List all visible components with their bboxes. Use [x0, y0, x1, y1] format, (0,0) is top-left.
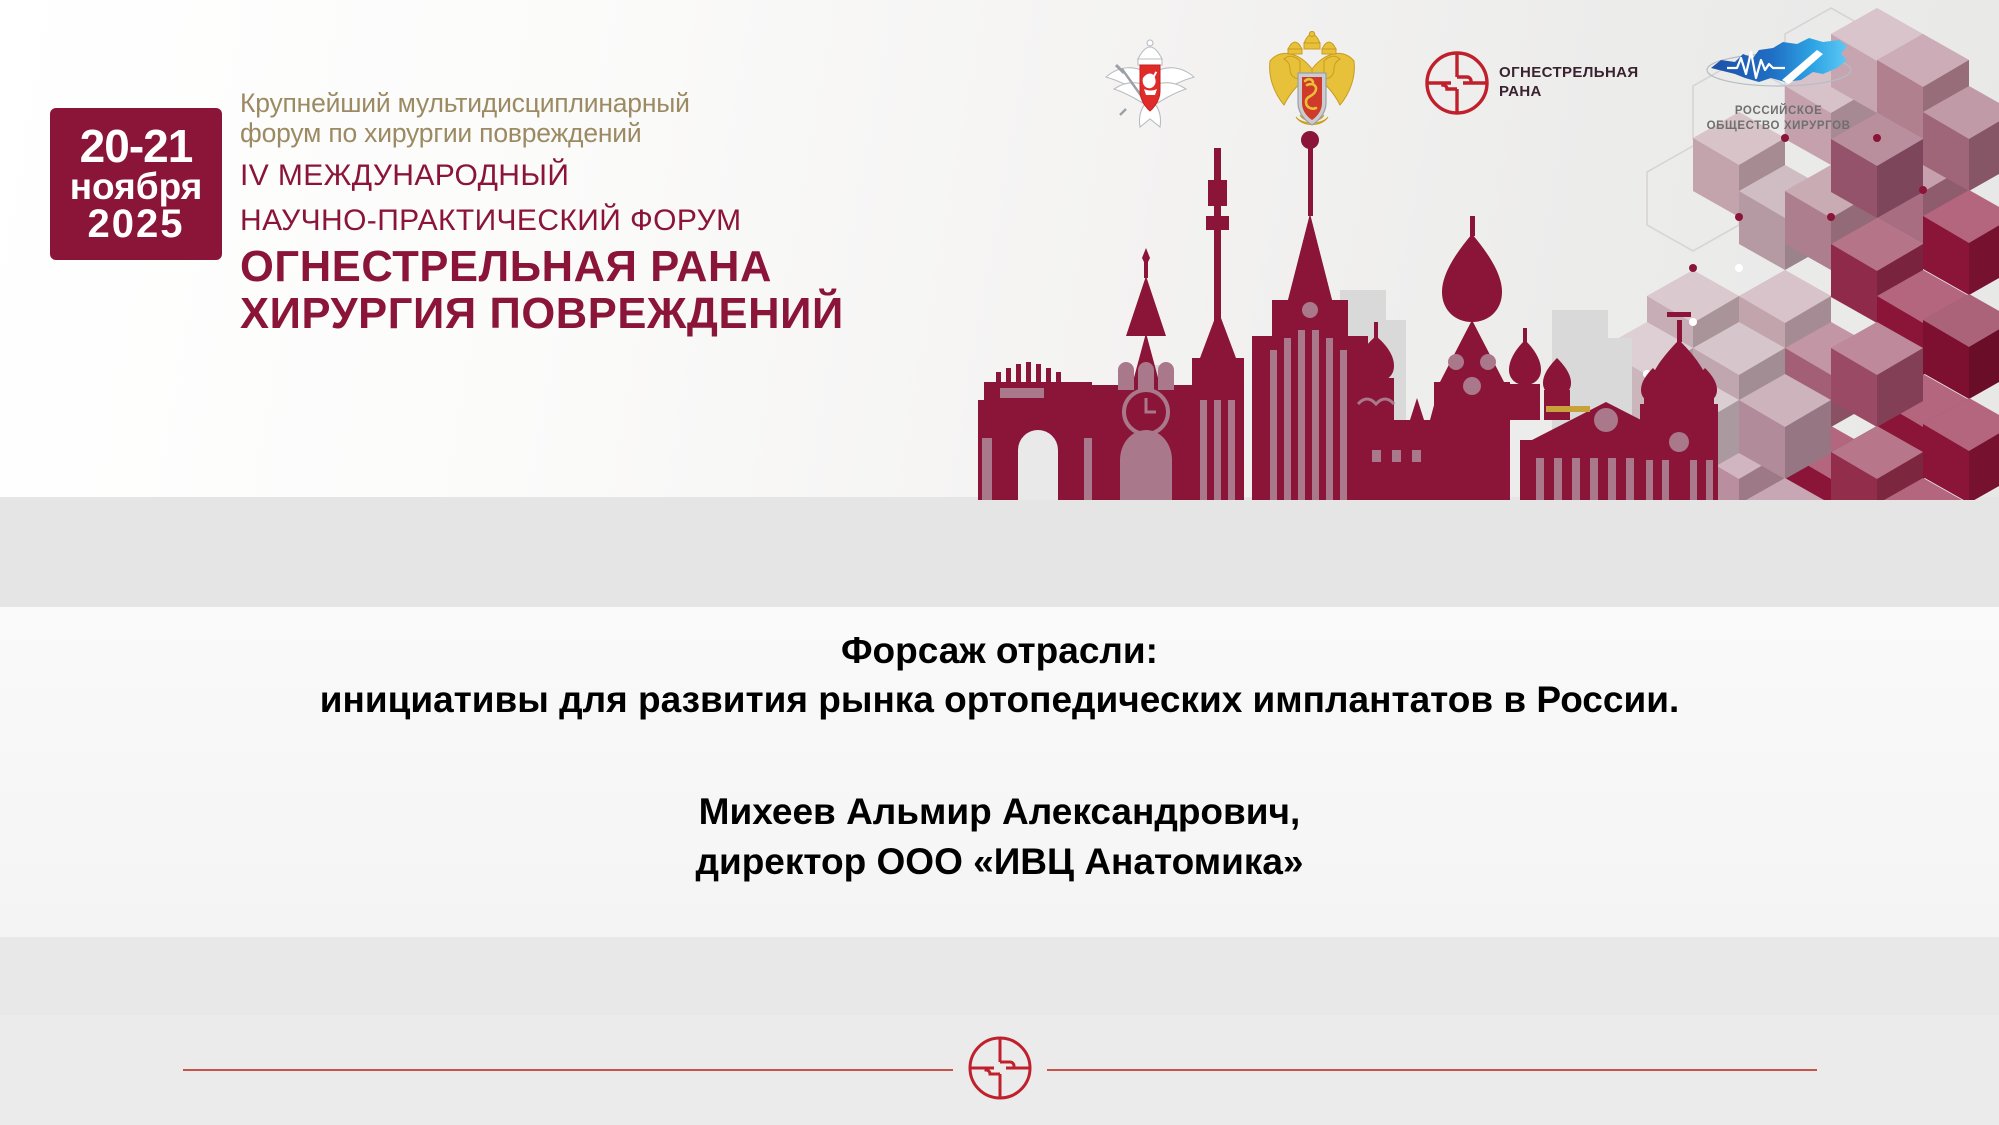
talk-title: Форсаж отрасли: инициативы для развития … — [320, 626, 1679, 724]
date-month: ноября — [70, 169, 203, 205]
divider-band-upper — [0, 497, 1999, 607]
gunshot-wound-logo-line-2: РАНА — [1499, 83, 1639, 102]
divider-band-lower — [0, 937, 1999, 1015]
ros-logo-line-2: ОБЩЕСТВО ХИРУРГОВ — [1707, 119, 1851, 134]
footer-emblem — [967, 1035, 1033, 1106]
event-date-badge: 20-21 ноября 2025 — [50, 108, 222, 260]
russia-map-icon — [1699, 32, 1859, 102]
forum-tagline-line-2: форум по хирургии повреждений — [240, 118, 940, 148]
partner-logos-row: ОГНЕСТРЕЛЬНАЯ РАНА — [1100, 28, 1859, 138]
footer-emblem-row — [0, 1015, 1999, 1125]
forum-kind-line-2: НАУЧНО-ПРАКТИЧЕСКИЙ ФОРУМ — [240, 204, 940, 238]
speaker-name: Михеев Альмир Александрович, — [695, 787, 1303, 836]
forum-kind-line-1: IV МЕЖДУНАРОДНЫЙ — [240, 159, 940, 193]
forum-name-line-1: ОГНЕСТРЕЛЬНАЯ РАНА — [240, 244, 940, 291]
slide-content: Форсаж отрасли: инициативы для развития … — [0, 607, 1999, 937]
speaker-position: директор ООО «ИВЦ Анатомика» — [695, 837, 1303, 886]
ministry-of-health-emblem-icon — [1260, 31, 1364, 135]
forum-tagline-line-1: Крупнейший мультидисциплинарный — [240, 88, 940, 118]
gunshot-wound-logo-line-1: ОГНЕСТРЕЛЬНАЯ — [1499, 64, 1639, 83]
circle-crosshair-icon — [967, 1035, 1033, 1101]
forum-name-line-2: ХИРУРГИЯ ПОВРЕЖДЕНИЙ — [240, 291, 940, 338]
speaker-info: Михеев Альмир Александрович, директор ОО… — [695, 787, 1303, 885]
ministry-of-defence-emblem-icon — [1100, 35, 1200, 131]
date-day: 20-21 — [80, 124, 193, 169]
footer-rule-left — [183, 1069, 953, 1071]
russian-society-of-surgeons-logo: РОССИЙСКОЕ ОБЩЕСТВО ХИРУРГОВ — [1699, 32, 1859, 134]
footer-rule-right — [1047, 1069, 1817, 1071]
forum-logotype: Крупнейший мультидисциплинарный форум по… — [240, 88, 940, 338]
russian-society-of-surgeons-text: РОССИЙСКОЕ ОБЩЕСТВО ХИРУРГОВ — [1707, 104, 1851, 134]
presentation-slide: 20-21 ноября 2025 Крупнейший мультидисци… — [0, 0, 1999, 1125]
talk-title-line-1: Форсаж отрасли: — [320, 626, 1679, 675]
date-year: 2025 — [88, 205, 185, 244]
circle-crosshair-icon — [1424, 50, 1490, 116]
talk-title-line-2: инициативы для развития рынка ортопедиче… — [320, 675, 1679, 724]
ros-logo-line-1: РОССИЙСКОЕ — [1707, 104, 1851, 119]
gunshot-wound-logo-text: ОГНЕСТРЕЛЬНАЯ РАНА — [1499, 64, 1639, 102]
gunshot-wound-logo: ОГНЕСТРЕЛЬНАЯ РАНА — [1424, 50, 1639, 116]
